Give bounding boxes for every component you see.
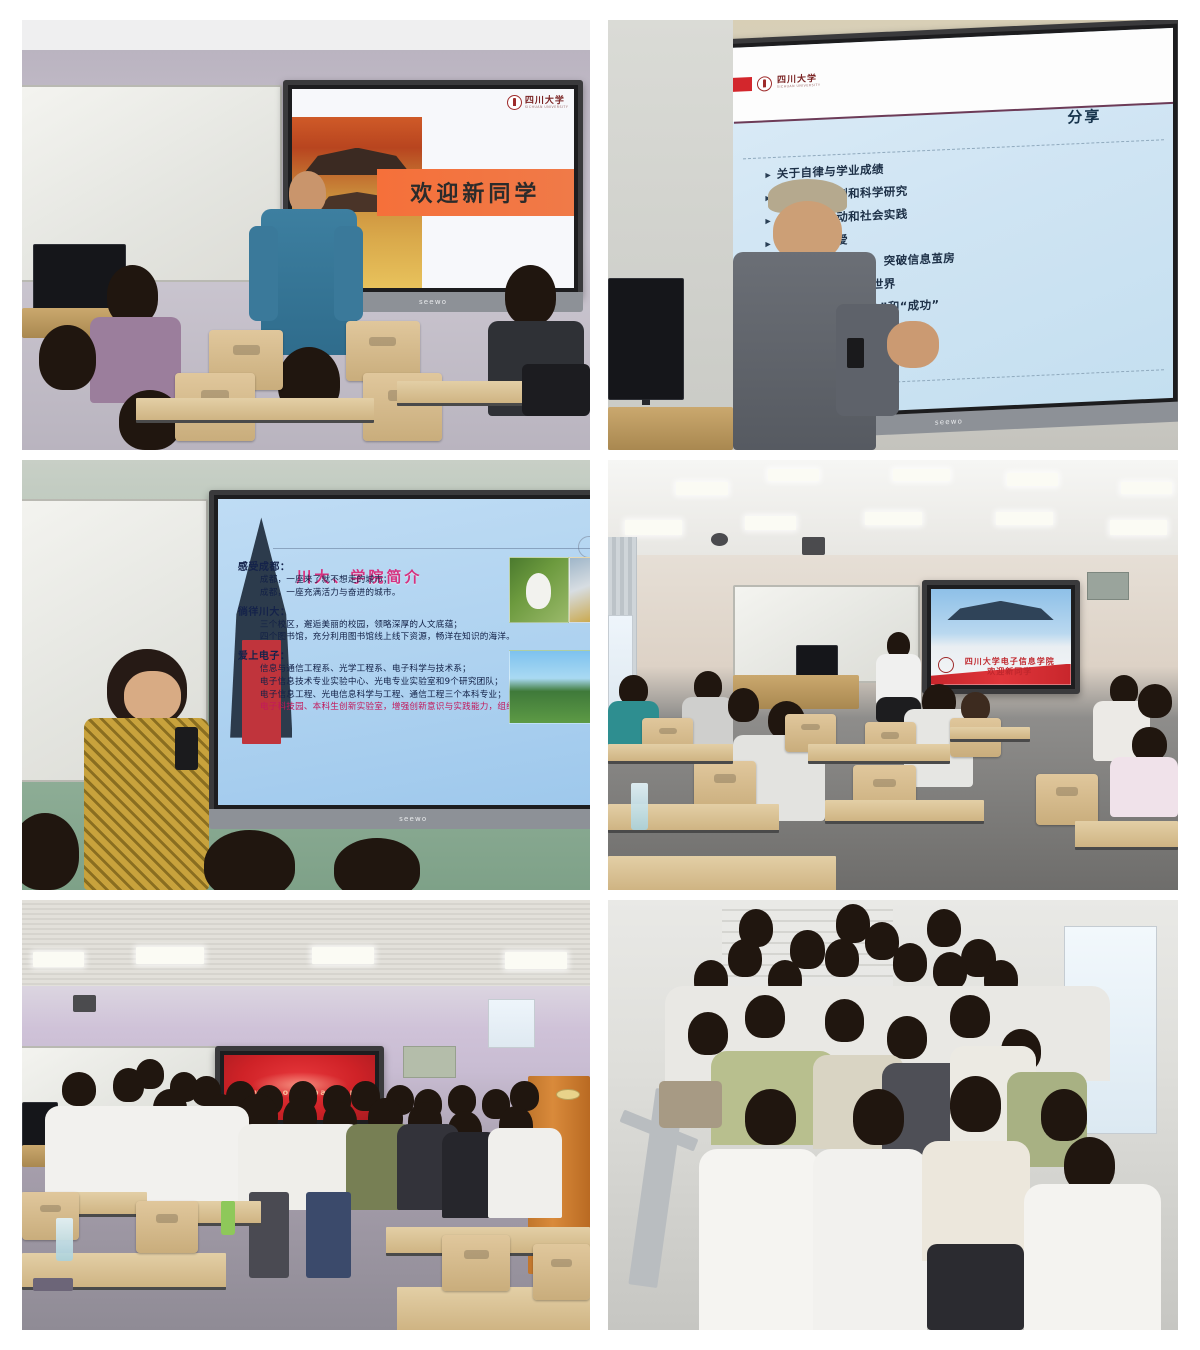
photo-panel-top-right: 四川大学 SICHUAN UNIVERSITY 分享 ▶关于自律与学业成绩 ▶关… [608,20,1178,450]
slide-text-block: 四川大学电子信息学院 欢迎新同学 [953,657,1067,677]
water-bottle [631,783,648,830]
ceiling-light [1007,473,1058,486]
slide-archway-image [947,601,1054,643]
water-bottle [56,1218,73,1261]
presenter-clicker [847,338,864,368]
backpack [522,364,590,416]
group-row-front [813,1149,927,1330]
group-member-head [825,939,859,978]
ceiling-light [676,482,727,496]
section-line: 四个图书馆，充分利用图书馆线上线下资源，畅洋在知识的海洋。 [260,632,507,643]
presenter-arm-right [334,226,362,321]
display-brand-label: seewo [419,298,447,306]
slide-body: 感受成都： 成都，一座来了就不想走的城市； 成都，一座充满活力与奋进的城市。 徜… [238,554,507,715]
student-body [1110,757,1178,817]
group-member-head [933,952,967,991]
shoulder-bag [659,1081,722,1128]
student-head [334,838,419,890]
slide-line-1: 四川大学电子信息学院 [953,657,1067,667]
ceiling-light [893,469,950,482]
ceiling-light [996,512,1053,526]
section-heading: 徜徉川大： [238,603,507,618]
scu-seal-icon [938,657,954,673]
photo-panel-middle-right: 四川大学电子信息学院 欢迎新同学 [608,460,1178,890]
scu-seal-icon [507,95,522,110]
audience-head [505,265,556,325]
classroom-desk [608,856,836,890]
display-brand-label: seewo [935,417,963,426]
group-member-head [853,1089,904,1145]
bullet-text: 关于自律与学业成绩 [777,163,884,181]
group-member-head [887,1016,927,1059]
bullet-arrow-icon: ▶ [766,214,771,228]
section-heading: 感受成都： [238,558,507,573]
photo-panel-bottom-right [608,900,1178,1330]
classroom-desk [825,800,985,825]
ceiling-light [745,516,796,530]
water-bottle [221,1201,235,1235]
classroom-chair [442,1235,510,1291]
ceiling-camera [711,533,728,546]
classroom-display: 川大、学院简介 感受成都： 成都，一座来了就不想走的城市； 成都，一座充满活力与… [209,490,590,814]
group-member-skirt [927,1244,1024,1330]
scu-seal-icon [757,75,772,91]
group-member-head [688,1012,728,1055]
classroom-desk [950,727,1030,743]
bullet-arrow-icon: ▶ [766,168,771,182]
section-line: 电子信息技术专业实验中心、光电专业实验室和9个研究团队； [260,677,507,688]
section-line-highlight: 电子科技园、本科生创新实验室，增强创新意识与实践能力，组织与参与各种竞 [260,702,507,713]
group-row-front [45,1106,249,1201]
slide-image-building [569,557,590,622]
scu-seal-icon [578,536,590,558]
group-member-head [825,999,865,1042]
presenter-arm-left [249,226,277,321]
ceiling-light [865,512,922,526]
section-line: 三个校区，邂逅美丽的校园，领略深厚的人文底蕴； [260,620,507,631]
wall-panel [488,999,535,1048]
ceiling-light [625,520,682,535]
photo-panel-top-left: 四川大学 SICHUAN UNIVERSITY 欢迎新同学 seewo [22,20,590,450]
photo-panel-middle-left: 川大、学院简介 感受成都： 成都，一座来了就不想走的城市； 成都，一座充满活力与… [22,460,590,890]
speaker-arm [836,304,899,416]
section-line: 电子信息工程、光电信息科学与工程、通信工程三个本科专业； [260,690,507,701]
audience-body [90,317,181,403]
ceiling-light [1121,482,1172,495]
header-rule [273,548,590,549]
student-head [1132,727,1166,761]
ceiling-light [312,947,374,964]
classroom-desk [1075,821,1178,850]
speaker-hand [887,321,938,368]
wall-notice-board [403,1046,456,1078]
slide-header: 四川大学 SICHUAN UNIVERSITY [725,27,1173,121]
display-brand-label: seewo [399,815,427,823]
group-member-trousers [306,1192,351,1278]
group-member-head [950,995,990,1038]
photo-collage: 四川大学 SICHUAN UNIVERSITY 欢迎新同学 seewo [0,0,1200,1350]
classroom-desk [608,744,733,764]
student-head [204,830,295,890]
podium [608,407,733,450]
section-line: 信息与通信工程系、光学工程系、电子科学与技术系； [260,664,507,675]
desk-monitor [608,278,684,400]
slide-image-group [509,557,590,768]
classroom-display: 四川大学电子信息学院 欢迎新同学 [922,580,1080,693]
group-member-head [790,930,824,969]
classroom-chair [136,1201,198,1253]
group-member-head [893,943,927,982]
ceiling-light [768,469,819,482]
wall-speaker [73,995,96,1012]
phone-on-desk [33,1278,73,1291]
group-row-front [488,1128,562,1218]
section-line: 成都，一座充满活力与奋进的城市。 [260,588,507,599]
group-member-head [62,1072,96,1106]
section-line: 成都，一座来了就不想走的城市； [260,575,507,586]
scu-logo-en: SICHUAN UNIVERSITY [525,106,568,109]
group-row-front [1024,1184,1161,1330]
slide-title: 欢迎新同学 [410,176,540,208]
ceiling-speaker [802,537,825,554]
ceiling-light [1110,520,1167,535]
classroom-chair [533,1244,590,1300]
group-member-head [136,1059,164,1089]
student-head [728,688,759,722]
slide-image-lake [509,650,590,724]
photo-panel-bottom-left: red welcome backdrop [22,900,590,1330]
slide-title-banner: 欢迎新同学 [377,169,574,217]
group-member-head [745,995,785,1038]
group-member-head [950,1076,1001,1132]
student-head [1138,684,1172,718]
scu-logo-en: SICHUAN UNIVERSITY [777,83,820,88]
group-member-head [1041,1089,1087,1141]
slide-title: 分享 [1068,105,1102,128]
classroom-desk [808,744,951,764]
group-member-head [728,939,762,978]
teacher-face [124,671,181,723]
slide-line-2: 欢迎新同学 [953,667,1067,677]
presenter-head [289,171,326,214]
group-member-head [927,909,961,948]
ceiling-light [505,952,567,969]
slide-image-panda [509,557,569,622]
wall-control-panel [1087,572,1129,600]
group-row-front [699,1149,819,1330]
flag-icon [730,77,752,92]
lecture-desk [136,398,375,423]
ceiling-light [33,952,84,967]
bullet-arrow-icon: ▶ [766,237,771,251]
section-heading: 爱上电子： [238,647,507,662]
audience-head [39,325,96,390]
group-member-head [745,1089,796,1145]
classroom-chair [1036,774,1099,826]
ceiling-light [136,947,204,964]
microphone-icon [175,727,198,770]
